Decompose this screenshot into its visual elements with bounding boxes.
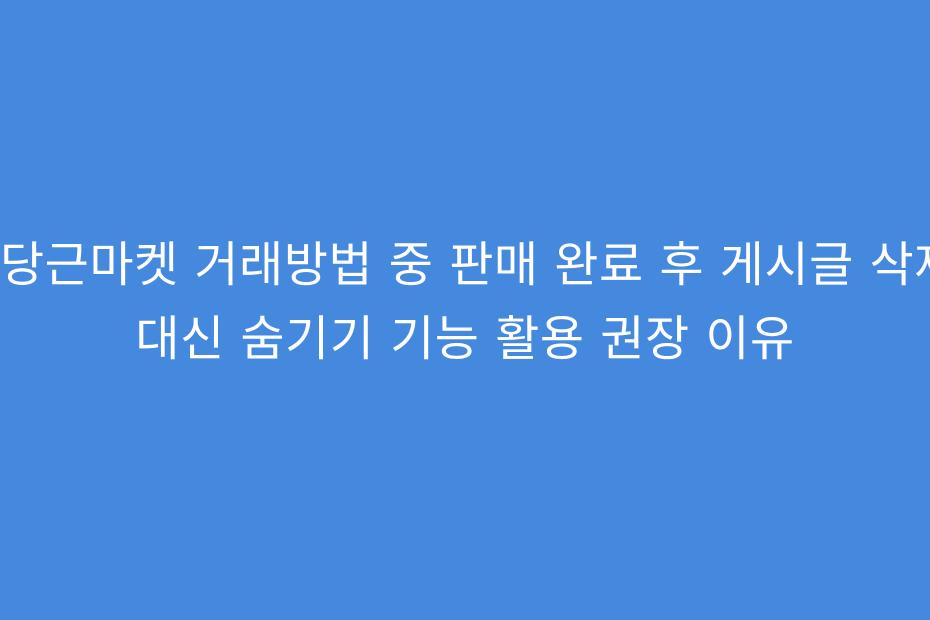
title-line-1: 당근마켓 거래방법 중 판매 완료 후 게시글 삭제 bbox=[0, 228, 930, 302]
thumbnail-card: 당근마켓 거래방법 중 판매 완료 후 게시글 삭제 대신 숨기기 기능 활용 … bbox=[0, 0, 930, 620]
title-block: 당근마켓 거래방법 중 판매 완료 후 게시글 삭제 대신 숨기기 기능 활용 … bbox=[0, 0, 930, 620]
title-line-2: 대신 숨기기 기능 활용 권장 이유 bbox=[135, 302, 794, 376]
